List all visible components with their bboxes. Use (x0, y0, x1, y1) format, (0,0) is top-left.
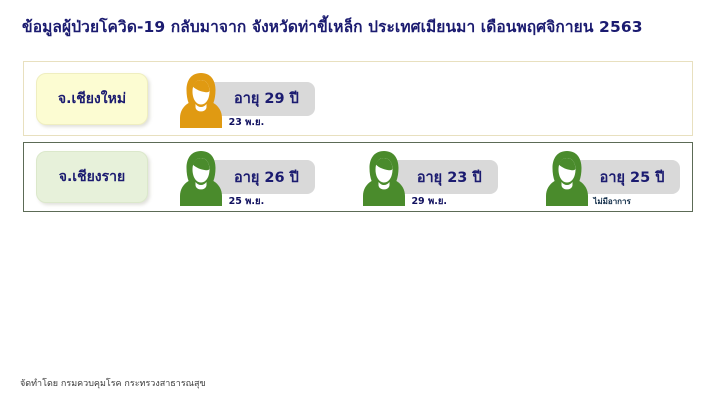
page-title: ข้อมูลผู้ป่วยโควิด-19 กลับมาจาก จังหวัดท… (22, 14, 643, 39)
age-label: อายุ 25 ปี (600, 166, 665, 189)
page-title-bar: ข้อมูลผู้ป่วยโควิด-19 กลับมาจาก จังหวัดท… (0, 0, 720, 52)
province-label-text: จ.เชียงราย (59, 166, 125, 188)
case-note: 25 พ.ย. (215, 197, 277, 207)
age-label: อายุ 26 ปี (234, 166, 299, 189)
age-label: อายุ 23 ปี (417, 166, 482, 189)
case-list-chiang-rai: 25 พ.ย. อายุ 26 ปี 29 พ.ย. (178, 146, 692, 208)
province-panel-chiang-rai: จ.เชียงราย 25 พ.ย. อายุ 26 ปี (23, 142, 693, 212)
case-item: 25 พ.ย. อายุ 26 ปี (178, 146, 315, 208)
case-note: 29 พ.ย. (398, 197, 460, 207)
province-label-text: จ.เชียงใหม่ (58, 88, 126, 110)
infographic-page: ข้อมูลผู้ป่วยโควิด-19 กลับมาจาก จังหวัดท… (0, 0, 720, 402)
case-note: 23 พ.ย. (215, 118, 277, 128)
province-chip-chiang-rai: จ.เชียงราย (36, 151, 148, 203)
case-item: ไม่มีอาการ อายุ 25 ปี (544, 146, 681, 208)
case-item: 23 พ.ย. อายุ 29 ปี (178, 68, 315, 130)
province-panel-chiang-mai: จ.เชียงใหม่ 23 พ.ย. อายุ 29 ปี (23, 61, 693, 136)
case-list-chiang-mai: 23 พ.ย. อายุ 29 ปี (178, 68, 692, 130)
case-item: 29 พ.ย. อายุ 23 ปี (361, 146, 498, 208)
age-label: อายุ 29 ปี (234, 87, 299, 110)
footer-attribution: จัดทำโดย กรมควบคุมโรค กระทรวงสาธารณสุข (20, 376, 206, 390)
province-chip-chiang-mai: จ.เชียงใหม่ (36, 73, 148, 125)
case-note: ไม่มีอาการ (581, 198, 643, 206)
